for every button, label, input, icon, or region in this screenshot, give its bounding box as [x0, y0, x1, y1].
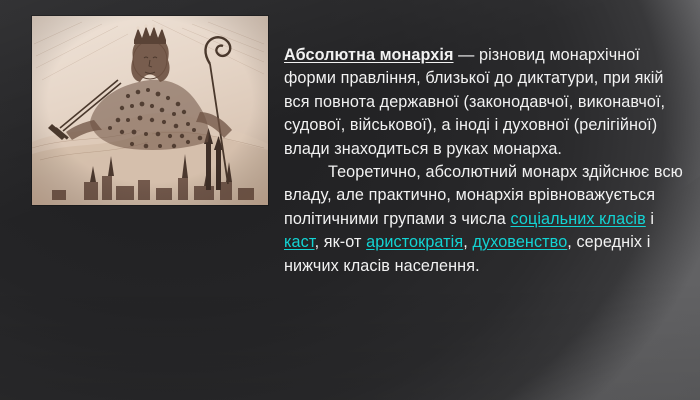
link-aristocracy[interactable]: аристократія [366, 233, 463, 251]
link-clergy[interactable]: духовенство [472, 233, 567, 251]
theory-text-part3: , як-от [315, 233, 367, 251]
slide-body-text: Абсолютна монархія — різновид монархічно… [284, 44, 684, 278]
link-castes[interactable]: каст [284, 233, 315, 251]
term-absolute-monarchy: Абсолютна монархія [284, 46, 454, 64]
slide-image [32, 16, 268, 205]
em-dash: — [454, 46, 479, 64]
presentation-slide: Абсолютна монархія — різновид монархічно… [0, 0, 700, 400]
theory-conjunction: і [646, 210, 654, 228]
leviathan-engraving-icon [32, 16, 268, 205]
paragraph-theory: Теоретично, абсолютний монарх здійснює в… [284, 161, 684, 278]
link-social-classes[interactable]: соціальних класів [510, 210, 645, 228]
paragraph-definition: Абсолютна монархія — різновид монархічно… [284, 44, 684, 161]
